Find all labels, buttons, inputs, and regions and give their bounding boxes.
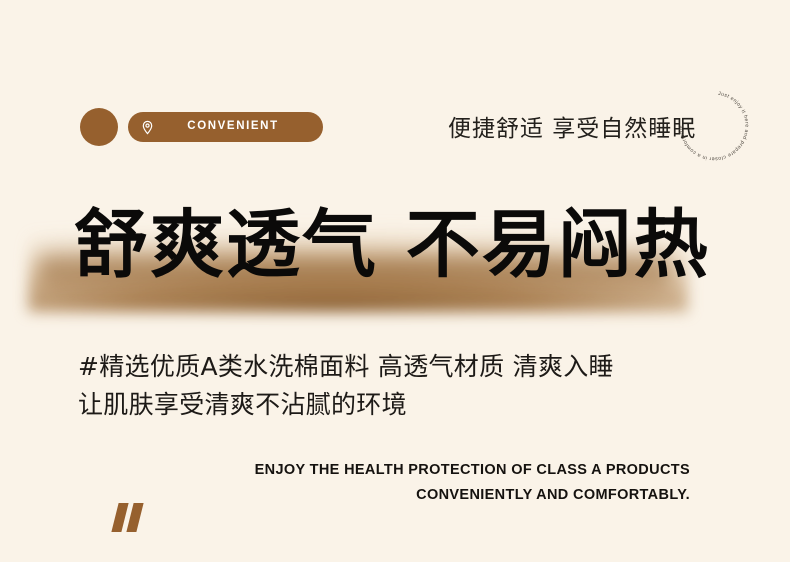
decorative-dot — [80, 108, 118, 146]
headline-text: 舒爽透气 不易闷热 — [74, 200, 710, 290]
arc-textpath: Just enjoy it here and prepare closer in… — [678, 91, 749, 162]
tagline-line-1: ENJOY THE HEALTH PROTECTION OF CLASS A P… — [0, 458, 690, 483]
location-pin-icon — [140, 120, 155, 135]
tagline-line-2: CONVENIENTLY AND COMFORTABLY. — [0, 483, 690, 508]
quote-bar-left — [111, 503, 128, 532]
subtitle-line-2: 让肌肤享受清爽不沾腻的环境 — [78, 386, 718, 424]
subtitle-line-1: #精选优质A类水洗棉面料 高透气材质 清爽入睡 — [78, 348, 718, 386]
subtitle-block: #精选优质A类水洗棉面料 高透气材质 清爽入睡 让肌肤享受清爽不沾腻的环境 — [78, 348, 718, 424]
circular-arc-stamp: Just enjoy it here and prepare closer in… — [676, 88, 752, 164]
double-quote-mark-icon — [113, 503, 153, 533]
tagline-block: ENJOY THE HEALTH PROTECTION OF CLASS A P… — [0, 458, 690, 509]
badge-label: CONVENIENT — [155, 121, 307, 133]
eyebrow-text-cn: 便捷舒适 享受自然睡眠 — [448, 109, 696, 143]
quote-bar-right — [126, 503, 143, 532]
badge-row: CONVENIENT — [80, 108, 323, 146]
headline-block: 舒爽透气 不易闷热 — [0, 196, 790, 314]
convenient-badge[interactable]: CONVENIENT — [128, 112, 323, 142]
promo-poster: CONVENIENT 便捷舒适 享受自然睡眠 Just enjoy it her… — [0, 0, 790, 562]
arc-text: Just enjoy it here and prepare closer in… — [678, 91, 749, 162]
